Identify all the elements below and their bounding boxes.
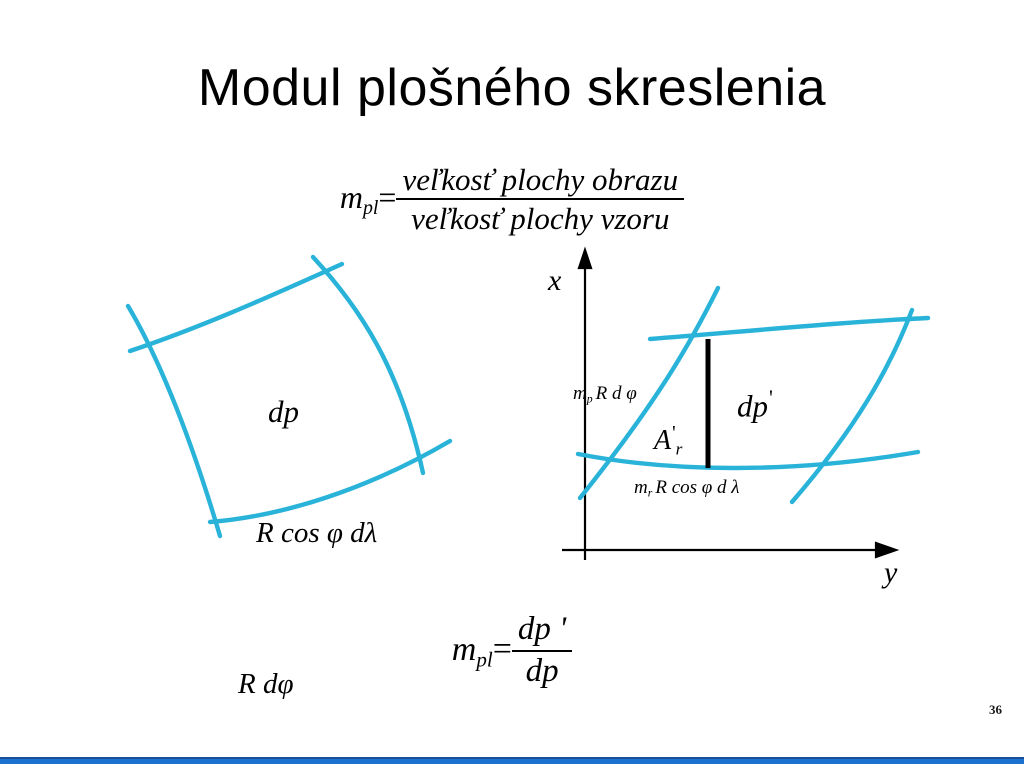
formula-bottom-lhs-subscript: pl [476,647,492,671]
formula-top-lhs-subscript: pl [363,197,378,219]
formula-area-modulus-definition: mpl= veľkosť plochy obrazu veľkosť ploch… [0,163,1024,236]
meridian-arc-right [313,257,423,473]
label-a-r-prime-letter: A [654,425,671,456]
footer-bar-bright-line [0,759,1024,764]
meridian-arc-left [128,306,220,536]
parallel-arc-bottom [210,441,450,522]
formula-bottom-denominator: dp [512,652,572,690]
axis-label-y: y [884,556,897,590]
label-r-cos-phi-dlambda: R cos φ dλ [256,517,377,550]
formula-bottom-numerator: dp ' [512,612,572,652]
label-mp-r-dphi-sub: p [587,393,593,406]
axis-x-arrowhead [579,250,591,268]
axis-y-arrowhead [876,543,896,557]
label-mp-r-dphi-rest: R d φ [596,383,637,404]
label-a-r-prime-sub: r [676,439,683,458]
label-dp: dp [268,394,299,430]
parallel-arc-bottom [578,452,918,468]
formula-top-numerator: veľkosť plochy obrazu [396,163,684,200]
label-mr-rest: R cos φ d λ [655,477,739,498]
formula-bottom-lhs-symbol: m [452,631,477,668]
label-a-r-prime: A'r [654,423,682,459]
label-dp-prime-mark: ' [768,386,773,410]
formula-top-denominator: veľkosť plochy vzoru [396,200,684,235]
label-mr-sub: r [648,487,653,500]
label-mp-r-dphi: mpR d φ [573,383,637,407]
formula-bottom-equals: = [493,631,512,668]
page-title: Modul plošného skreslenia [0,58,1024,118]
page-number: 36 [989,702,1002,718]
formula-bottom-lhs: mpl [452,631,493,668]
meridian-arc-right [792,310,912,502]
label-mr-r-cos-phi-dlambda: mrR cos φ d λ [634,477,740,501]
label-mr-m: m [634,477,648,498]
formula-top-equals: = [378,179,396,215]
formula-area-modulus-ratio: mpl= dp ' dp [0,612,1024,689]
formula-bottom-fraction: dp ' dp [512,612,572,689]
parallel-arc-top [130,264,342,351]
footer-decoration-bar [0,757,1024,764]
formula-top-lhs-symbol: m [340,179,363,215]
axis-label-x: x [548,264,561,298]
formula-top-fraction: veľkosť plochy obrazu veľkosť plochy vzo… [396,163,684,236]
slide-canvas: Modul plošného skreslenia mpl= veľkosť p… [0,0,1024,768]
label-dp-prime-letters: dp [737,388,768,423]
label-dp-prime: dp' [737,386,773,424]
label-mp-r-dphi-m: m [573,383,587,404]
formula-top-lhs: mpl [340,179,379,215]
